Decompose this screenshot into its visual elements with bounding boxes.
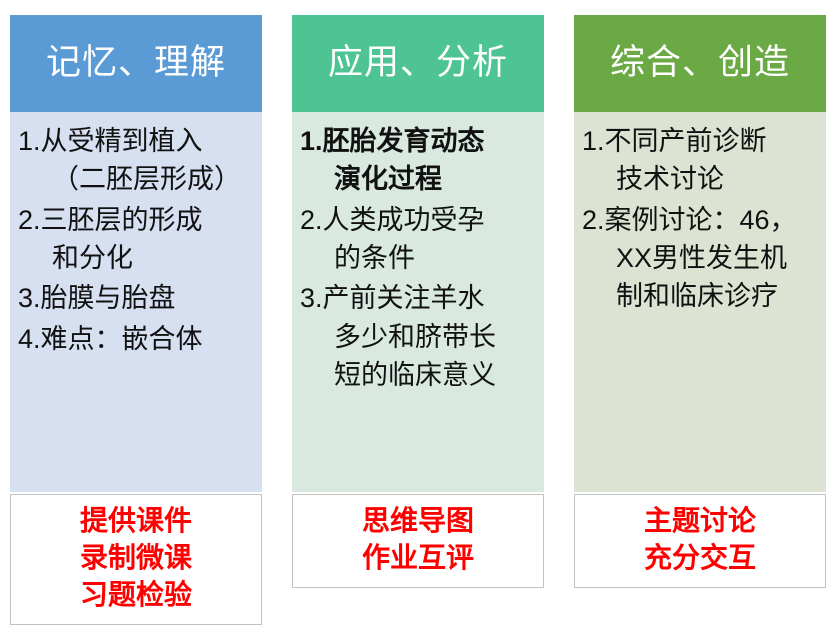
column-footer-synthesis-creation: 主题讨论 充分交互 (574, 494, 826, 588)
footer-line: 录制微课 (15, 540, 257, 577)
footer-line: 充分交互 (579, 540, 821, 577)
list-item: 1.不同产前诊断 技术讨论 (582, 122, 818, 199)
column-footer-memory-understanding: 提供课件 录制微课 习题检验 (10, 494, 262, 625)
footer-line: 主题讨论 (579, 503, 821, 540)
column-memory-understanding: 记忆、理解 1.从受精到植入 （二胚层形成） 2.三胚层的形成 和分化 3.胎膜… (10, 15, 262, 625)
column-header-label: 综合、创造 (610, 44, 790, 83)
footer-line: 习题检验 (15, 577, 257, 614)
column-header-application-analysis: 应用、分析 (292, 15, 544, 112)
list-item: 4.难点：嵌合体 (18, 320, 254, 358)
list-item: 3.产前关注羊水 多少和脐带长 短的临床意义 (300, 279, 536, 394)
column-header-memory-understanding: 记忆、理解 (10, 15, 262, 112)
list-item: 1.从受精到植入 （二胚层形成） (18, 122, 254, 199)
footer-line: 思维导图 (297, 503, 539, 540)
footer-line: 提供课件 (15, 503, 257, 540)
list-item: 3.胎膜与胎盘 (18, 279, 254, 317)
footer-line: 作业互评 (297, 540, 539, 577)
column-header-synthesis-creation: 综合、创造 (574, 15, 826, 112)
column-footer-application-analysis: 思维导图 作业互评 (292, 494, 544, 588)
slide-canvas: 记忆、理解 1.从受精到植入 （二胚层形成） 2.三胚层的形成 和分化 3.胎膜… (0, 0, 836, 633)
column-synthesis-creation: 综合、创造 1.不同产前诊断 技术讨论 2.案例讨论：46， XX男性发生机 制… (574, 15, 826, 588)
list-item: 1.胚胎发育动态 演化过程 (300, 122, 536, 199)
column-header-label: 记忆、理解 (46, 44, 226, 83)
column-application-analysis: 应用、分析 1.胚胎发育动态 演化过程 2.人类成功受孕 的条件 3.产前关注羊… (292, 15, 544, 588)
list-item: 2.案例讨论：46， XX男性发生机 制和临床诊疗 (582, 201, 818, 316)
column-body-application-analysis: 1.胚胎发育动态 演化过程 2.人类成功受孕 的条件 3.产前关注羊水 多少和脐… (292, 112, 544, 492)
list-item: 2.三胚层的形成 和分化 (18, 201, 254, 278)
list-item: 2.人类成功受孕 的条件 (300, 201, 536, 278)
column-body-synthesis-creation: 1.不同产前诊断 技术讨论 2.案例讨论：46， XX男性发生机 制和临床诊疗 (574, 112, 826, 492)
column-header-label: 应用、分析 (328, 44, 508, 83)
column-body-memory-understanding: 1.从受精到植入 （二胚层形成） 2.三胚层的形成 和分化 3.胎膜与胎盘 4.… (10, 112, 262, 492)
